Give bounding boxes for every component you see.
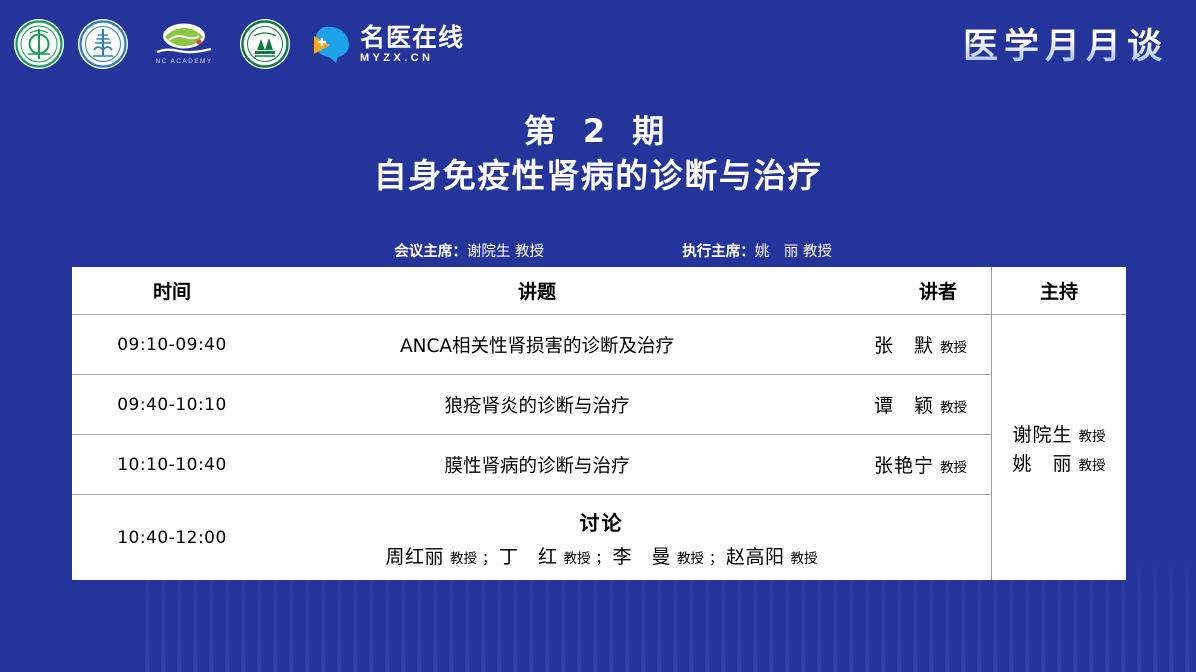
host-entry: 谢院生教授 (1012, 420, 1105, 447)
myzx-wordmark: 名医在线 MYZX.CN (360, 25, 464, 64)
row-topic: 膜性肾病的诊断与治疗 (272, 452, 802, 478)
discussion-separator: ； (482, 551, 496, 567)
discussion-participant-name: 丁 红 (499, 546, 558, 568)
logo-strip: NC ACADEMY (14, 17, 464, 71)
row-time: 09:10-09:40 (72, 335, 272, 355)
column-header-speaker: 讲者 (802, 277, 991, 304)
discussion-participant-name: 李 曼 (613, 546, 672, 568)
myzx-title-en: MYZX.CN (360, 53, 464, 64)
agenda-header-row: 时间 讲题 讲者 (72, 267, 991, 315)
column-header-time: 时间 (72, 277, 272, 304)
host-entry: 姚 丽教授 (1012, 449, 1105, 476)
executive-chair-label: 执行主席： (682, 244, 755, 260)
discussion-participant-title: 教授 (791, 551, 818, 567)
discussion-time: 10:40-12:00 (72, 528, 272, 548)
conference-chair-name: 谢院生 教授 (467, 244, 544, 260)
agenda-host-column: 主持 谢院生教授 姚 丽教授 (991, 267, 1126, 580)
university-emblem-green-icon (240, 19, 290, 69)
row-speaker-name: 张艳宁 (874, 455, 934, 477)
host-title: 教授 (1079, 454, 1106, 474)
academy-emblem-subtext: NC ACADEMY (156, 58, 213, 65)
discussion-body: 讨论 周红丽教授；丁 红教授；李 曼教授；赵高阳教授 (272, 507, 991, 569)
myzx-logo: 名医在线 MYZX.CN (310, 24, 464, 64)
host-list: 谢院生教授 姚 丽教授 (992, 315, 1126, 580)
slide-header: NC ACADEMY (0, 0, 1196, 88)
table-row: 09:40-10:10 狼疮肾炎的诊断与治疗 谭 颖教授 (72, 375, 991, 435)
discussion-row: 10:40-12:00 讨论 周红丽教授；丁 红教授；李 曼教授；赵高阳教授 (72, 495, 991, 580)
column-header-host: 主持 (992, 267, 1126, 315)
conference-chair-label: 会议主席： (394, 244, 467, 260)
agenda-table: 时间 讲题 讲者 09:10-09:40 ANCA相关性肾损害的诊断及治疗 张 … (72, 267, 1126, 580)
executive-chair-name: 姚 丽 教授 (755, 244, 832, 260)
row-topic: 狼疮肾炎的诊断与治疗 (272, 392, 802, 418)
row-time: 10:10-10:40 (72, 455, 272, 475)
agenda-main-columns: 时间 讲题 讲者 09:10-09:40 ANCA相关性肾损害的诊断及治疗 张 … (72, 267, 991, 580)
row-time: 09:40-10:10 (72, 395, 272, 415)
discussion-participants: 周红丽教授；丁 红教授；李 曼教授；赵高阳教授 (385, 542, 817, 569)
presentation-slide: NC ACADEMY (0, 0, 1196, 672)
discussion-participant-title: 教授 (450, 551, 477, 567)
table-row: 09:10-09:40 ANCA相关性肾损害的诊断及治疗 张 默教授 (72, 315, 991, 375)
session-topic: 自身免疫性肾病的诊断与治疗 (0, 155, 1196, 198)
discussion-participant-name: 赵高阳 (726, 546, 785, 568)
discussion-participant-name: 周红丽 (385, 546, 444, 568)
discussion-separator: ； (596, 551, 610, 567)
discussion-participant-title: 教授 (677, 551, 704, 567)
column-header-topic: 讲题 (272, 277, 802, 304)
academy-emblem-icon: NC ACADEMY (142, 19, 226, 69)
issue-number: 第 2 期 (0, 113, 1196, 151)
row-speaker-name: 张 默 (874, 335, 934, 357)
discussion-heading: 讨论 (580, 507, 624, 536)
hospital-emblem-blue-icon (78, 19, 128, 69)
discussion-separator: ； (709, 551, 723, 567)
brand-title: 医学月月谈 (963, 18, 1168, 69)
row-topic: ANCA相关性肾损害的诊断及治疗 (272, 332, 802, 358)
table-row: 10:10-10:40 膜性肾病的诊断与治疗 张艳宁教授 (72, 435, 991, 495)
host-title: 教授 (1079, 425, 1106, 445)
discussion-participant-title: 教授 (564, 551, 591, 567)
hospital-emblem-green-icon (14, 19, 64, 69)
row-speaker: 张 默教授 (802, 331, 991, 358)
row-speaker-title: 教授 (940, 340, 967, 356)
row-speaker: 张艳宁教授 (802, 451, 991, 478)
row-speaker: 谭 颖教授 (802, 391, 991, 418)
row-speaker-title: 教授 (940, 400, 967, 416)
host-name: 谢院生 (1012, 420, 1072, 447)
row-speaker-name: 谭 颖 (874, 395, 934, 417)
host-name: 姚 丽 (1012, 449, 1072, 476)
myzx-title-cn: 名医在线 (360, 25, 464, 50)
myzx-mark-icon (310, 24, 352, 64)
title-block: 第 2 期 自身免疫性肾病的诊断与治疗 (0, 113, 1196, 198)
row-speaker-title: 教授 (940, 460, 967, 476)
